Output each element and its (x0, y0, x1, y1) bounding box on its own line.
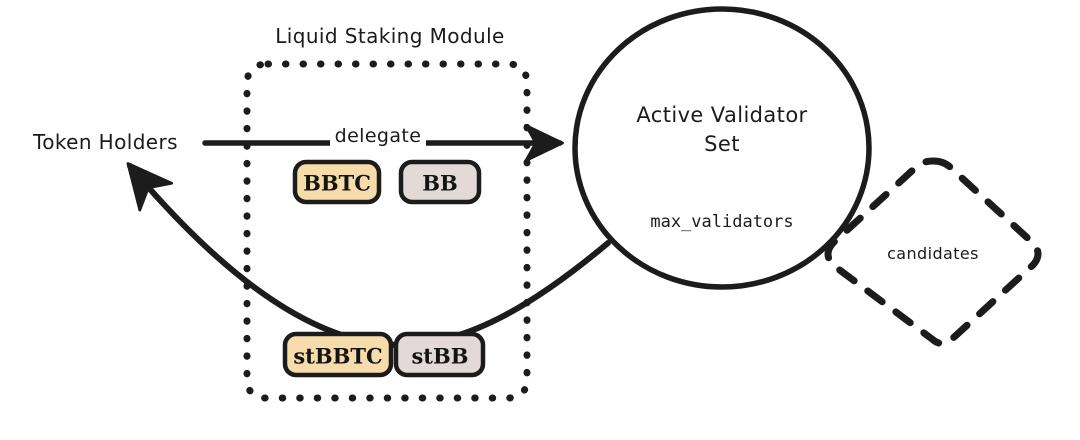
token-chip-stbbtc-label: stBBTC (293, 344, 382, 369)
token-chip-bbtc: BBTC (295, 162, 379, 202)
delegate-edge-group: delegate (205, 125, 560, 147)
max-validators-label: max_validators (650, 212, 793, 232)
diagram-canvas: Liquid Staking Module Token Holders dele… (0, 0, 1080, 440)
token-holders-label: Token Holders (32, 130, 178, 154)
validator-set-title-line2: Set (704, 132, 740, 156)
token-chip-bbtc-label: BBTC (303, 171, 371, 196)
delegate-label: delegate (335, 125, 422, 147)
token-chip-stbb: stBB (396, 334, 483, 375)
validator-set-title-line1: Active Validator (636, 103, 807, 127)
token-chip-stbb-label: stBB (411, 344, 468, 369)
active-validator-set-group: Active Validator Set max_validators (575, 9, 869, 287)
candidates-label: candidates (887, 244, 979, 263)
module-title-label: Liquid Staking Module (275, 24, 504, 48)
candidates-group: candidates (828, 161, 1038, 344)
token-chip-stbbtc: stBBTC (285, 334, 391, 375)
diagram-svg: Liquid Staking Module Token Holders dele… (0, 0, 1080, 440)
token-chip-bb-label: BB (422, 171, 458, 196)
token-chip-bb: BB (401, 162, 479, 202)
